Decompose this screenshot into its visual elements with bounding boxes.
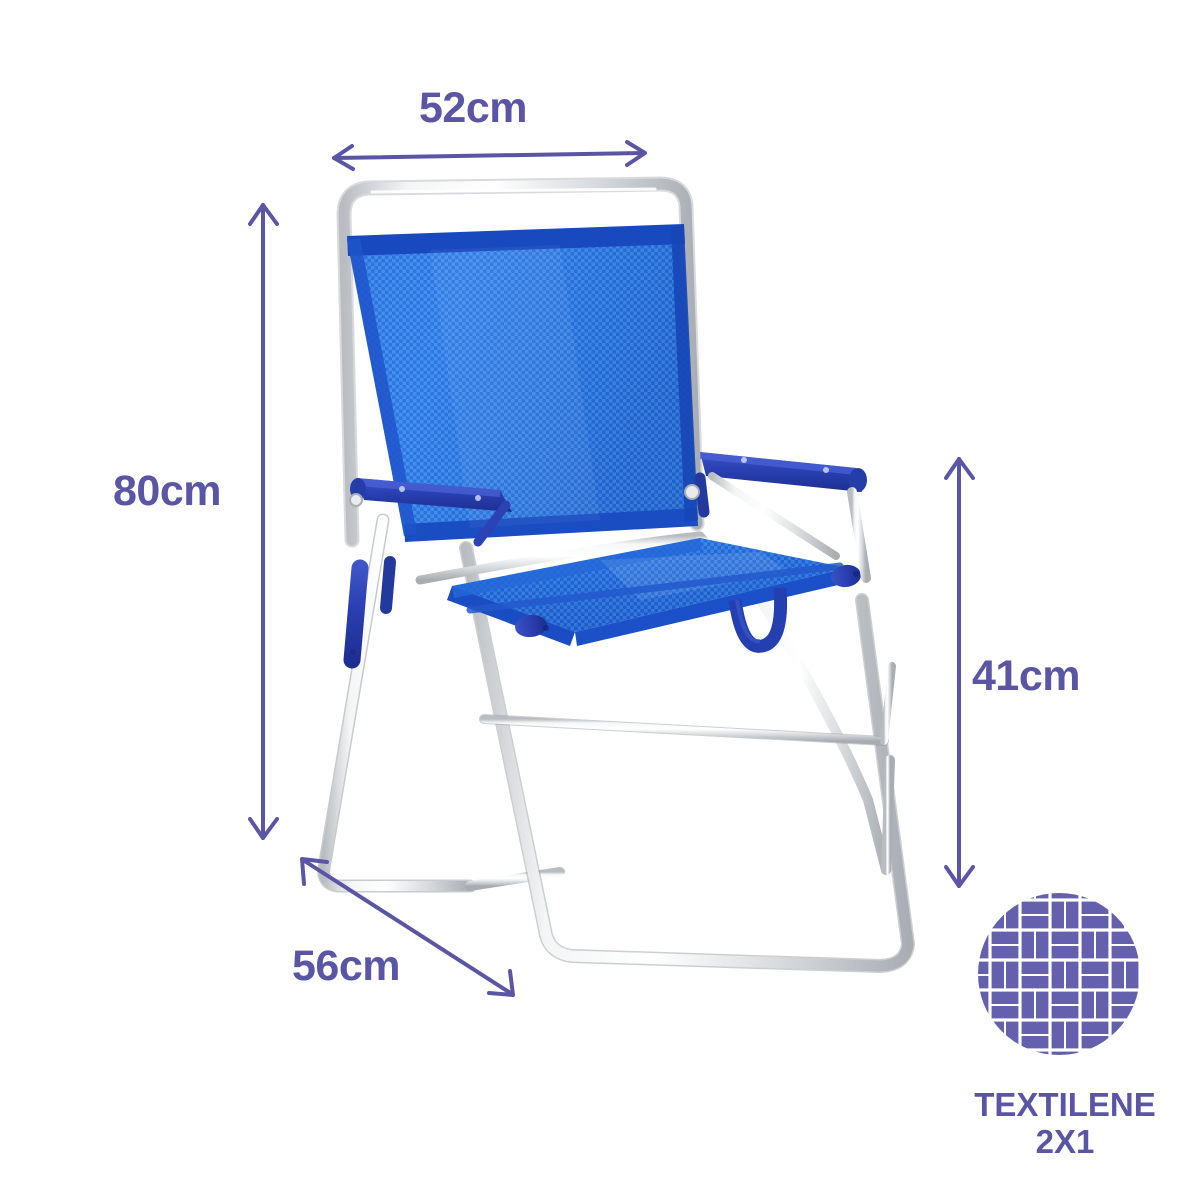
material-badge-icon (0, 0, 1200, 1200)
product-dimension-diagram: 52cm 80cm 41cm 56cm (0, 0, 1200, 1200)
material-badge-spec: 2X1 (960, 1125, 1170, 1160)
material-badge-name: TEXTILENE (960, 1088, 1170, 1123)
